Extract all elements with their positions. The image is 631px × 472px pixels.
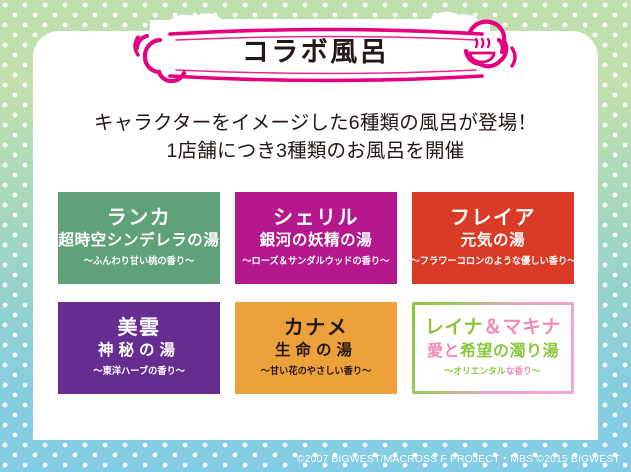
card-bath-part-2: 希望の濁り湯 — [460, 343, 559, 360]
card-bath-name: 愛と希望の濁り湯 — [427, 341, 559, 363]
subtitle-block: キャラクターをイメージした6種類の風呂が登場！ 1店舗につき3種類のお風呂を開催 — [33, 109, 598, 166]
card-scent-part-2: な香り — [506, 366, 532, 376]
poster-root: コラボ風呂 キャラクターをイメージした6種類の風呂が登場！ 1店舗につき3種類の… — [0, 0, 631, 472]
subtitle-line-2: 1店舗につき3種類のお風呂を開催 — [33, 137, 598, 165]
card-bath-name: 生命の湯 — [275, 341, 357, 362]
card-scent: ～甘い花のやさしい香り～ — [261, 366, 372, 378]
card-name-part-reina: レイナ — [425, 317, 483, 338]
bath-card-ranka[interactable]: ランカ 超時空シンデレラの湯 ～ふんわり甘い桃の香り～ — [58, 192, 220, 284]
card-scent: ～フラワーコロンのような優しい香り～ — [412, 256, 574, 268]
bath-card-freyja[interactable]: フレイア 元気の湯 ～フラワーコロンのような優しい香り～ — [412, 192, 574, 284]
card-character-name: フレイア — [450, 208, 536, 230]
card-bath-name: 元気の湯 — [461, 231, 525, 252]
card-scent: ～ローズ＆サンダルウッドの香り～ — [243, 256, 390, 268]
card-scent-part-3: ～ — [532, 366, 541, 376]
card-name-part-makina: ＆マキナ — [483, 317, 561, 338]
card-character-name: カナメ — [284, 318, 349, 340]
bath-card-kaname[interactable]: カナメ 生命の湯 ～甘い花のやさしい香り～ — [235, 302, 397, 394]
card-scent: ～東洋ハーブの香り～ — [93, 366, 185, 378]
bath-card-mikumo[interactable]: 美雲 神秘の湯 ～東洋ハーブの香り～ — [58, 302, 220, 394]
card-character-name: シェリル — [273, 208, 359, 230]
bath-card-reina-makina[interactable]: レイナ＆マキナ 愛と希望の濁り湯 ～オリエンタルな香り～ — [412, 302, 574, 394]
card-character-name: レイナ＆マキナ — [425, 318, 561, 339]
card-scent: ～オリエンタルな香り～ — [445, 366, 541, 378]
bath-card-sheryl[interactable]: シェリル 銀河の妖精の湯 ～ローズ＆サンダルウッドの香り～ — [235, 192, 397, 284]
subtitle-line-1: キャラクターをイメージした6種類の風呂が登場！ — [33, 109, 598, 137]
card-character-name: 美雲 — [118, 318, 161, 340]
card-bath-name: 銀河の妖精の湯 — [260, 231, 373, 252]
card-scent: ～ふんわり甘い桃の香り～ — [84, 256, 195, 268]
card-bath-part-1: 愛と — [427, 343, 460, 360]
card-bath-name: 超時空シンデレラの湯 — [58, 231, 219, 252]
copyright-notice: ©2007 BIGWEST/MACROSS F PROJECT・MBS ©201… — [297, 451, 620, 466]
card-scent-part-1: ～オリエンタル — [445, 366, 506, 376]
card-bath-name: 神秘の湯 — [98, 341, 180, 362]
card-character-name: ランカ — [107, 208, 172, 230]
bath-card-grid: ランカ 超時空シンデレラの湯 ～ふんわり甘い桃の香り～ シェリル 銀河の妖精の湯… — [58, 192, 574, 394]
